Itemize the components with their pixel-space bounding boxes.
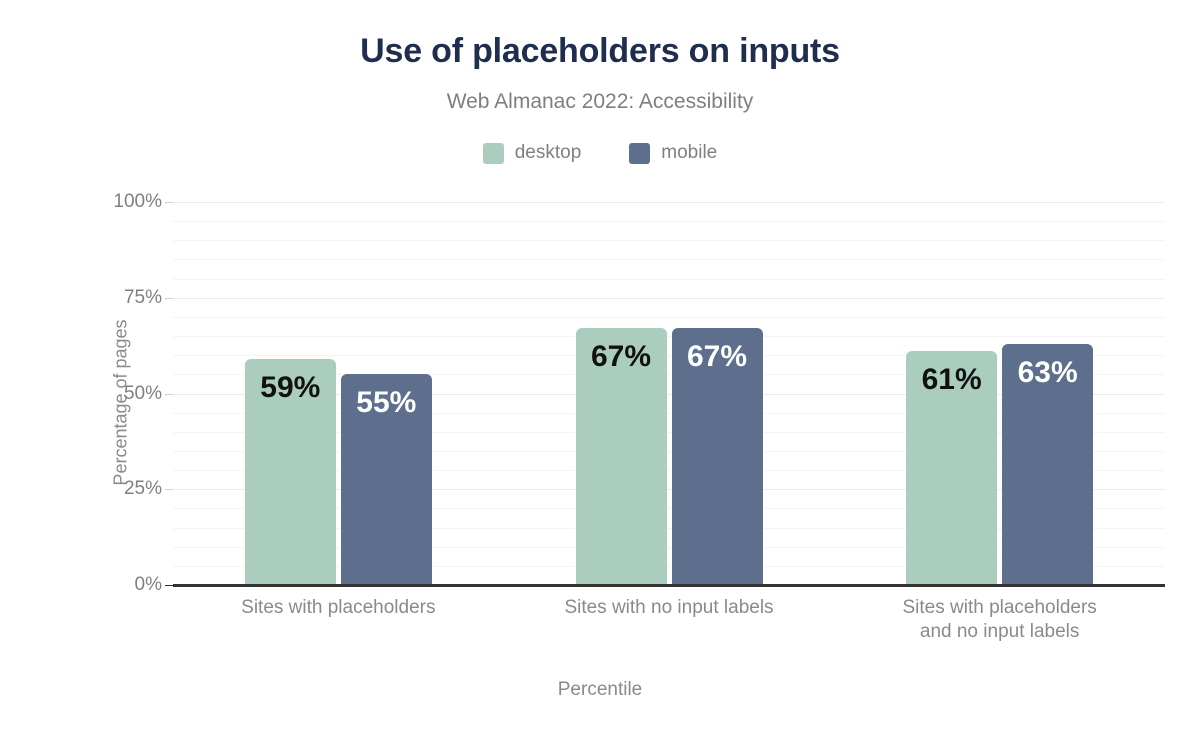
x-axis-tick-label: Sites with placeholders [173,596,503,620]
chart-container: Use of placeholders on inputs Web Almana… [0,0,1200,742]
legend-item-desktop[interactable]: desktop [483,142,582,164]
bar-value-label: 61% [906,365,997,395]
bar-desktop-group2[interactable]: 61% [906,351,997,585]
x-axis-title: Percentile [0,679,1200,701]
x-axis-tick-label: Sites with placeholdersand no input labe… [835,596,1165,644]
legend-swatch-mobile-icon [629,143,650,164]
bars-layer: 59%55%67%67%61%63% [173,202,1165,585]
x-axis-tick-label-line: Sites with no input labels [504,596,834,620]
x-axis-baseline [173,584,1165,587]
chart-legend: desktop mobile [0,142,1200,164]
legend-label-desktop: desktop [515,142,582,164]
y-axis-tick-label: 0% [135,574,162,596]
bar-desktop-group0[interactable]: 59% [245,359,336,585]
y-axis-tick-label: 50% [124,383,162,405]
plot-area: 59%55%67%67%61%63% [173,202,1165,585]
bar-value-label: 67% [576,342,667,372]
chart-title: Use of placeholders on inputs [0,32,1200,71]
bar-mobile-group0[interactable]: 55% [341,374,432,585]
bar-value-label: 59% [245,373,336,403]
x-axis-tick-label-line: Sites with placeholders [835,596,1165,620]
y-axis-tick-label: 25% [124,478,162,500]
x-axis-tick-label: Sites with no input labels [504,596,834,620]
x-axis-tick-label-line: and no input labels [835,620,1165,644]
legend-item-mobile[interactable]: mobile [629,142,717,164]
bar-desktop-group1[interactable]: 67% [576,328,667,585]
bar-mobile-group2[interactable]: 63% [1002,344,1093,585]
legend-swatch-desktop-icon [483,143,504,164]
x-axis-tick-label-line: Sites with placeholders [173,596,503,620]
bar-value-label: 55% [341,388,432,418]
y-axis-tick-label: 75% [124,287,162,309]
y-axis-tick-label: 100% [113,191,162,213]
legend-label-mobile: mobile [661,142,717,164]
bar-value-label: 63% [1002,358,1093,388]
chart-subtitle: Web Almanac 2022: Accessibility [0,90,1200,114]
bar-value-label: 67% [672,342,763,372]
bar-mobile-group1[interactable]: 67% [672,328,763,585]
